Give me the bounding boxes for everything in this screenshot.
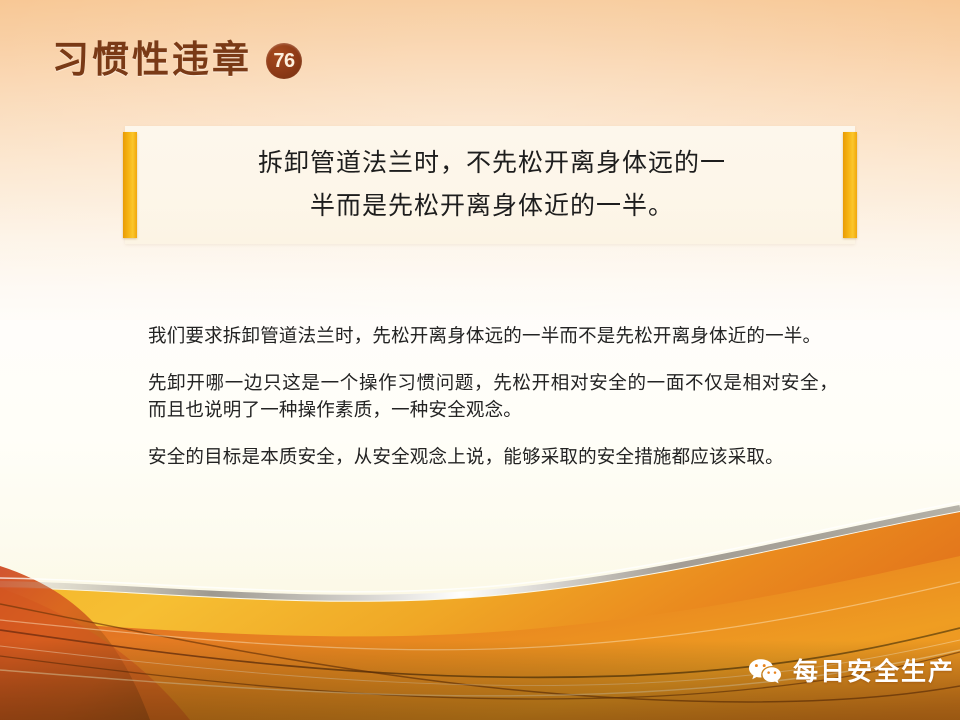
body-content: 我们要求拆卸管道法兰时，先松开离身体远的一半而不是先松开离身体近的一半。 先卸开…	[148, 322, 838, 470]
watermark-text: 每日安全生产	[793, 660, 955, 685]
body-paragraph: 先卸开哪一边只这是一个操作习惯问题，先松开相对安全的一面不仅是相对安全，而且也说…	[148, 369, 838, 423]
quote-line: 拆卸管道法兰时，不先松开离身体远的一	[159, 142, 825, 185]
watermark: 每日安全生产	[748, 658, 955, 686]
page-title: 习惯性违章 76	[52, 42, 302, 79]
body-paragraph: 我们要求拆卸管道法兰时，先松开离身体远的一半而不是先松开离身体近的一半。	[148, 322, 838, 349]
quote-accent-bar-left	[123, 132, 137, 238]
slide-number-badge-text: 76	[273, 51, 294, 71]
slide-number-badge: 76	[266, 43, 302, 79]
wechat-icon	[748, 658, 782, 686]
body-paragraph: 安全的目标是本质安全，从安全观念上说，能够采取的安全措施都应该采取。	[148, 443, 838, 470]
quote-accent-bar-right	[843, 132, 857, 238]
quote-text: 拆卸管道法兰时，不先松开离身体远的一 半而是先松开离身体近的一半。	[159, 142, 825, 228]
quote-box: 拆卸管道法兰时，不先松开离身体远的一 半而是先松开离身体近的一半。	[125, 126, 855, 244]
slide-canvas: 习惯性违章 76 拆卸管道法兰时，不先松开离身体远的一 半而是先松开离身体近的一…	[0, 0, 960, 720]
quote-line: 半而是先松开离身体近的一半。	[159, 185, 825, 228]
page-title-text: 习惯性违章	[52, 42, 252, 79]
